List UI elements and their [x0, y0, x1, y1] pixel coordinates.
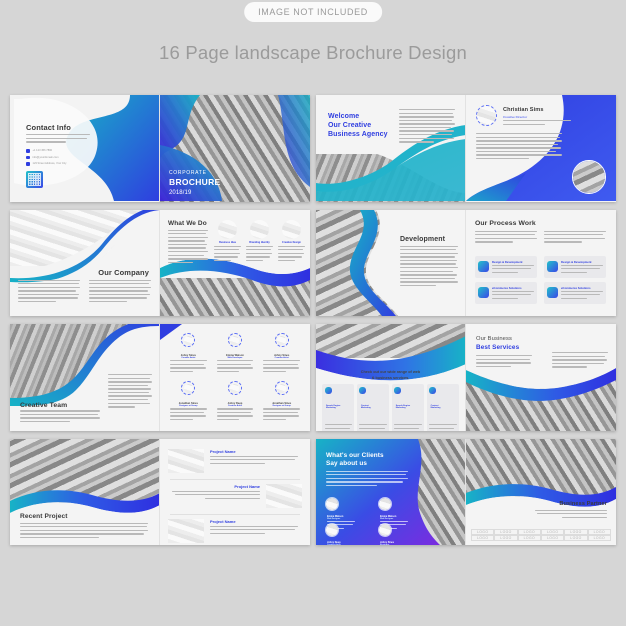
team-member-bio [217, 408, 254, 420]
process-card[interactable]: Design & Development [544, 256, 606, 278]
project-thumb [168, 449, 204, 473]
project-body [172, 491, 260, 502]
monitor-icon [325, 387, 332, 394]
service-body [246, 246, 273, 262]
what-we-do-body [168, 230, 208, 266]
cover-eyebrow: CORPORATE [169, 170, 207, 176]
development-title: Development [400, 236, 445, 243]
process-card-label: Design & Development [492, 260, 522, 264]
cover-headline: BROCHURE [169, 177, 221, 187]
team-member-bio [217, 360, 254, 372]
person-body [476, 133, 562, 162]
spread-project[interactable]: Recent Project Project Name Project Name [10, 439, 310, 546]
creative-team-body [20, 410, 100, 424]
team-member-role: Designer at Group [259, 405, 304, 407]
creative-team-sidebody [108, 374, 152, 410]
team-member[interactable]: Johny Sines Creative Artist [166, 328, 211, 376]
team-member-bio [263, 360, 300, 372]
page-welcome[interactable]: Welcome Our Creative Business Agency [316, 95, 466, 202]
contact-info-body [26, 134, 90, 145]
divider [170, 514, 300, 515]
project-item[interactable]: Project Name [168, 519, 302, 545]
person-intro [503, 120, 571, 127]
best-services-title-1: Our Business [476, 336, 512, 342]
team-member[interactable]: Jonathan Sines Designer at Group [166, 378, 211, 426]
testimonial[interactable]: Johny Sines Illustrator [378, 523, 424, 546]
testimonial-avatar [325, 523, 339, 537]
project-item[interactable]: Project Name [168, 449, 302, 475]
best-services-body-1 [476, 355, 532, 369]
testimonial-avatar [378, 497, 392, 511]
service-card-body [325, 424, 352, 431]
what-we-do-title: What We Do [168, 220, 207, 227]
page-best-services[interactable]: Our Business Best Services [466, 324, 616, 431]
service-card[interactable]: Content Marketing [357, 384, 389, 431]
service-card-label: Content Marketing [361, 405, 379, 409]
partner-logo[interactable]: LOGO [471, 535, 494, 541]
spread-clients[interactable]: What's our Clients Say about us Emma Wat… [316, 439, 616, 546]
development-body [400, 246, 458, 289]
testimonial-role: Web Designer [327, 518, 355, 520]
process-card[interactable]: eCommerce Solutions [475, 282, 537, 304]
person-role: Creative Director [503, 115, 527, 119]
contact-list: +1 123 456 7890 info@yourdomain.com 123 … [26, 149, 66, 166]
partner-logo[interactable]: LOGO [541, 535, 564, 541]
home-icon [478, 261, 489, 272]
service-card-body [359, 424, 386, 431]
process-card-body [561, 291, 603, 302]
monitor-icon [394, 387, 401, 394]
project-thumb [168, 519, 204, 543]
welcome-title-1: Welcome [328, 113, 359, 120]
process-card-label: eCommerce Solutions [492, 286, 522, 290]
page-creative-team[interactable]: Creative Team [10, 324, 160, 431]
clients-title-2: Say about us [326, 460, 367, 467]
page-our-company[interactable]: Our Company [10, 210, 160, 317]
process-card-label: Design & Development [561, 260, 591, 264]
partner-logo[interactable]: LOGO [588, 535, 611, 541]
contact-item: +1 123 456 7890 [26, 149, 66, 153]
recent-project-title: Recent Project [20, 513, 68, 520]
cover-year: 2018/19 [169, 190, 191, 196]
team-member-bio [263, 408, 300, 420]
spread-services[interactable]: Check out our wide range of web & busine… [316, 324, 616, 431]
page-services-list[interactable]: Check out our wide range of web & busine… [316, 324, 466, 431]
service-body [214, 246, 241, 262]
project-item[interactable]: Project Name [168, 484, 302, 510]
service-label: Business Idea [214, 241, 241, 244]
team-member-role: Creative Artist [213, 405, 258, 407]
partner-logo[interactable]: LOGO [518, 535, 541, 541]
chart-icon [429, 387, 436, 394]
brochure-preview-canvas: IMAGE NOT INCLUDED 16 Page landscape Bro… [0, 0, 626, 626]
team-member[interactable]: Johny Deep Creative Artist [213, 378, 258, 426]
page-project-list[interactable]: Project Name Project Name Projec [160, 439, 310, 546]
spread-welcome[interactable]: Welcome Our Creative Business Agency [316, 95, 616, 202]
services-headline-2: & business services. [316, 376, 465, 380]
testimonial-avatar [378, 523, 392, 537]
process-card-body [492, 291, 534, 302]
welcome-title-3: Business Agency [328, 131, 388, 138]
project-title: Project Name [210, 449, 236, 454]
service-card[interactable]: Content Marketing [427, 384, 459, 431]
spreads-grid: Contact Info +1 123 456 7890 info@yourdo… [10, 95, 616, 545]
contact-email: info@yourdomain.com [33, 156, 59, 159]
team-member-grid: Johny Sines Creative Artist Emma Watson … [166, 328, 304, 427]
project-thumb [266, 484, 302, 508]
creative-design-icon [282, 220, 301, 239]
partner-logo[interactable]: LOGO [564, 535, 587, 541]
service-card-body [394, 424, 421, 431]
divider [170, 479, 300, 480]
page-what-we-do[interactable]: What We Do Business Idea Branding Identi… [160, 210, 310, 317]
service-body [278, 246, 305, 262]
page-process-work[interactable]: Our Process Work Design & Development [466, 210, 616, 317]
testimonial[interactable]: Johny Deep Creative Artist [325, 523, 371, 546]
contact-item: info@yourdomain.com [26, 156, 66, 160]
service-item[interactable]: Creative Design [278, 220, 305, 264]
service-card-label: Search Engine Marketing [396, 405, 414, 409]
team-member-role: Creative Artist [166, 357, 211, 359]
partner-logo-grid: LOGO LOGO LOGO LOGO LOGO LOGO LOGO LOGO … [471, 529, 611, 541]
service-card[interactable]: Search Engine Marketing [392, 384, 424, 431]
testimonial-avatar [325, 497, 339, 511]
service-card-label: Search Engine Marketing [326, 405, 344, 409]
project-title: Project Name [210, 519, 236, 524]
mail-icon [26, 156, 30, 160]
welcome-title-2: Our Creative [328, 122, 371, 129]
spread-development[interactable]: Development Our Process Work Design & [316, 210, 616, 317]
testimonial-role: Web Designer [380, 518, 408, 520]
clients-title-1: What's our Clients [326, 452, 384, 459]
process-card[interactable]: eCommerce Solutions [544, 282, 606, 304]
business-partner-body [535, 510, 607, 521]
services-card-grid: Search Engine Marketing Content Marketin… [322, 384, 459, 431]
page-business-partner[interactable]: Business Partner LOGO LOGO LOGO LOGO LOG… [466, 439, 616, 546]
process-card[interactable]: Design & Development [475, 256, 537, 278]
business-idea-icon [218, 220, 237, 239]
contact-info-title: Contact Info [26, 123, 71, 132]
location-icon [26, 162, 30, 166]
process-card-body [492, 265, 534, 276]
phone-icon [26, 149, 30, 153]
testimonial-role: Illustrator [380, 544, 408, 546]
service-card-body [429, 424, 456, 431]
business-partner-title: Business Partner [559, 501, 607, 507]
service-item[interactable]: Branding Identity [246, 220, 273, 264]
project-body [210, 526, 298, 537]
chart-icon [359, 387, 366, 394]
person-photo [572, 160, 606, 194]
service-item[interactable]: Business Idea [214, 220, 241, 264]
page-development[interactable]: Development [316, 210, 466, 317]
contact-phone: +1 123 456 7890 [33, 149, 53, 152]
page-team-grid[interactable]: Johny Sines Creative Artist Emma Watson … [160, 324, 310, 431]
testimonial-role: Creative Artist [327, 544, 355, 546]
spread-cover[interactable]: Contact Info +1 123 456 7890 info@yourdo… [10, 95, 310, 202]
best-services-title-2: Best Services [476, 344, 519, 351]
services-headline-1: Check out our wide range of web [316, 370, 465, 374]
spread-team[interactable]: Creative Team Johny [10, 324, 310, 431]
process-body-col2 [544, 231, 606, 245]
team-member-bio [170, 408, 207, 420]
process-card-label: eCommerce Solutions [561, 286, 591, 290]
process-work-title: Our Process Work [475, 220, 536, 227]
company-body-col1 [18, 280, 80, 305]
page-title: 16 Page landscape Brochure Design [0, 42, 626, 64]
page-clients[interactable]: What's our Clients Say about us Emma Wat… [316, 439, 466, 546]
qr-code-icon[interactable] [26, 171, 43, 188]
team-member-role: Creative Artist [259, 357, 304, 359]
fingerprint-icon [478, 287, 489, 298]
fingerprint-icon [547, 287, 558, 298]
page-contact-info[interactable]: Contact Info +1 123 456 7890 info@yourdo… [10, 95, 160, 202]
branding-identity-icon [250, 220, 269, 239]
team-member-bio [170, 360, 207, 372]
project-body [210, 456, 298, 467]
welcome-body [399, 109, 455, 145]
process-body-col1 [475, 231, 537, 245]
page-cover[interactable]: CORPORATE BROCHURE 2018/19 [160, 95, 310, 202]
company-body-col2 [89, 280, 151, 305]
process-card-body [561, 265, 603, 276]
person-name: Christian Sims [503, 107, 544, 113]
team-member[interactable]: Johny Sines Creative Artist [259, 328, 304, 376]
service-card[interactable]: Search Engine Marketing [322, 384, 354, 431]
page-person[interactable]: Christian Sims Creative Director [466, 95, 616, 202]
home-icon [547, 261, 558, 272]
spread-company[interactable]: Our Company [10, 210, 310, 317]
service-label: Creative Design [278, 241, 305, 244]
project-title: Project Name [234, 484, 260, 489]
service-label: Branding Identity [246, 241, 273, 244]
best-services-body-2 [552, 352, 608, 370]
contact-item: 123 Street Address, Your City [26, 162, 66, 166]
partner-logo[interactable]: LOGO [494, 535, 517, 541]
recent-project-body [20, 523, 148, 541]
service-card-label: Content Marketing [431, 405, 449, 409]
team-member-role: Designer at Group [166, 405, 211, 407]
avatar [476, 105, 497, 126]
contact-address: 123 Street Address, Your City [33, 162, 67, 165]
page-recent-project[interactable]: Recent Project [10, 439, 160, 546]
clients-body [326, 471, 408, 489]
our-company-title: Our Company [98, 268, 149, 277]
creative-team-title: Creative Team [20, 402, 67, 409]
team-member[interactable]: Emma Watson Web Developer [213, 328, 258, 376]
team-member[interactable]: Jonathan Sines Designer at Group [259, 378, 304, 426]
image-not-included-badge: IMAGE NOT INCLUDED [244, 2, 382, 22]
team-member-role: Web Developer [213, 357, 258, 359]
